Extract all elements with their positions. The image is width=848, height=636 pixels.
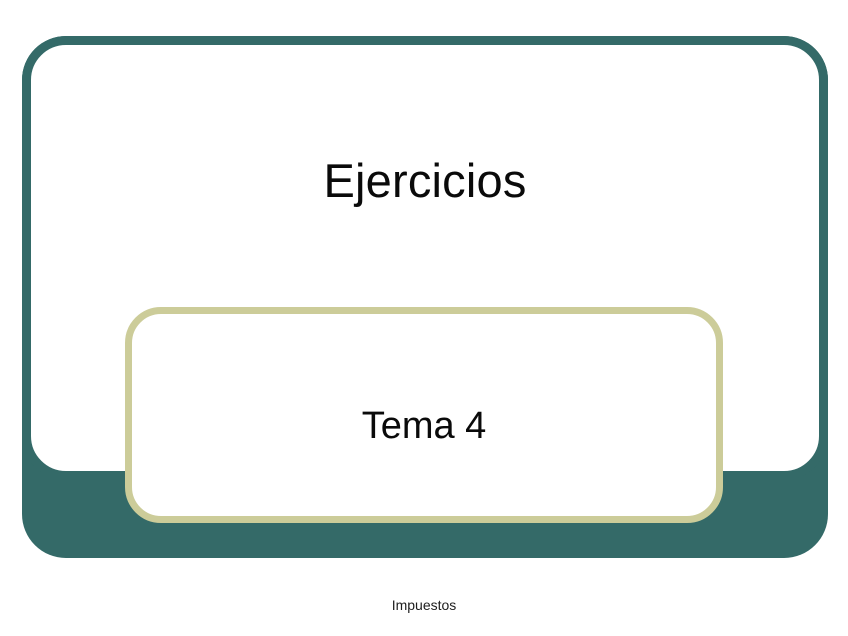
subtitle-callout-box: Tema 4 (125, 307, 723, 523)
slide-footer-text: Impuestos (0, 596, 848, 614)
slide-canvas: Ejercicios Tema 4 Impuestos (0, 0, 848, 636)
subtitle-callout-label: Tema 4 (132, 314, 716, 516)
slide-title: Ejercicios (22, 152, 828, 210)
